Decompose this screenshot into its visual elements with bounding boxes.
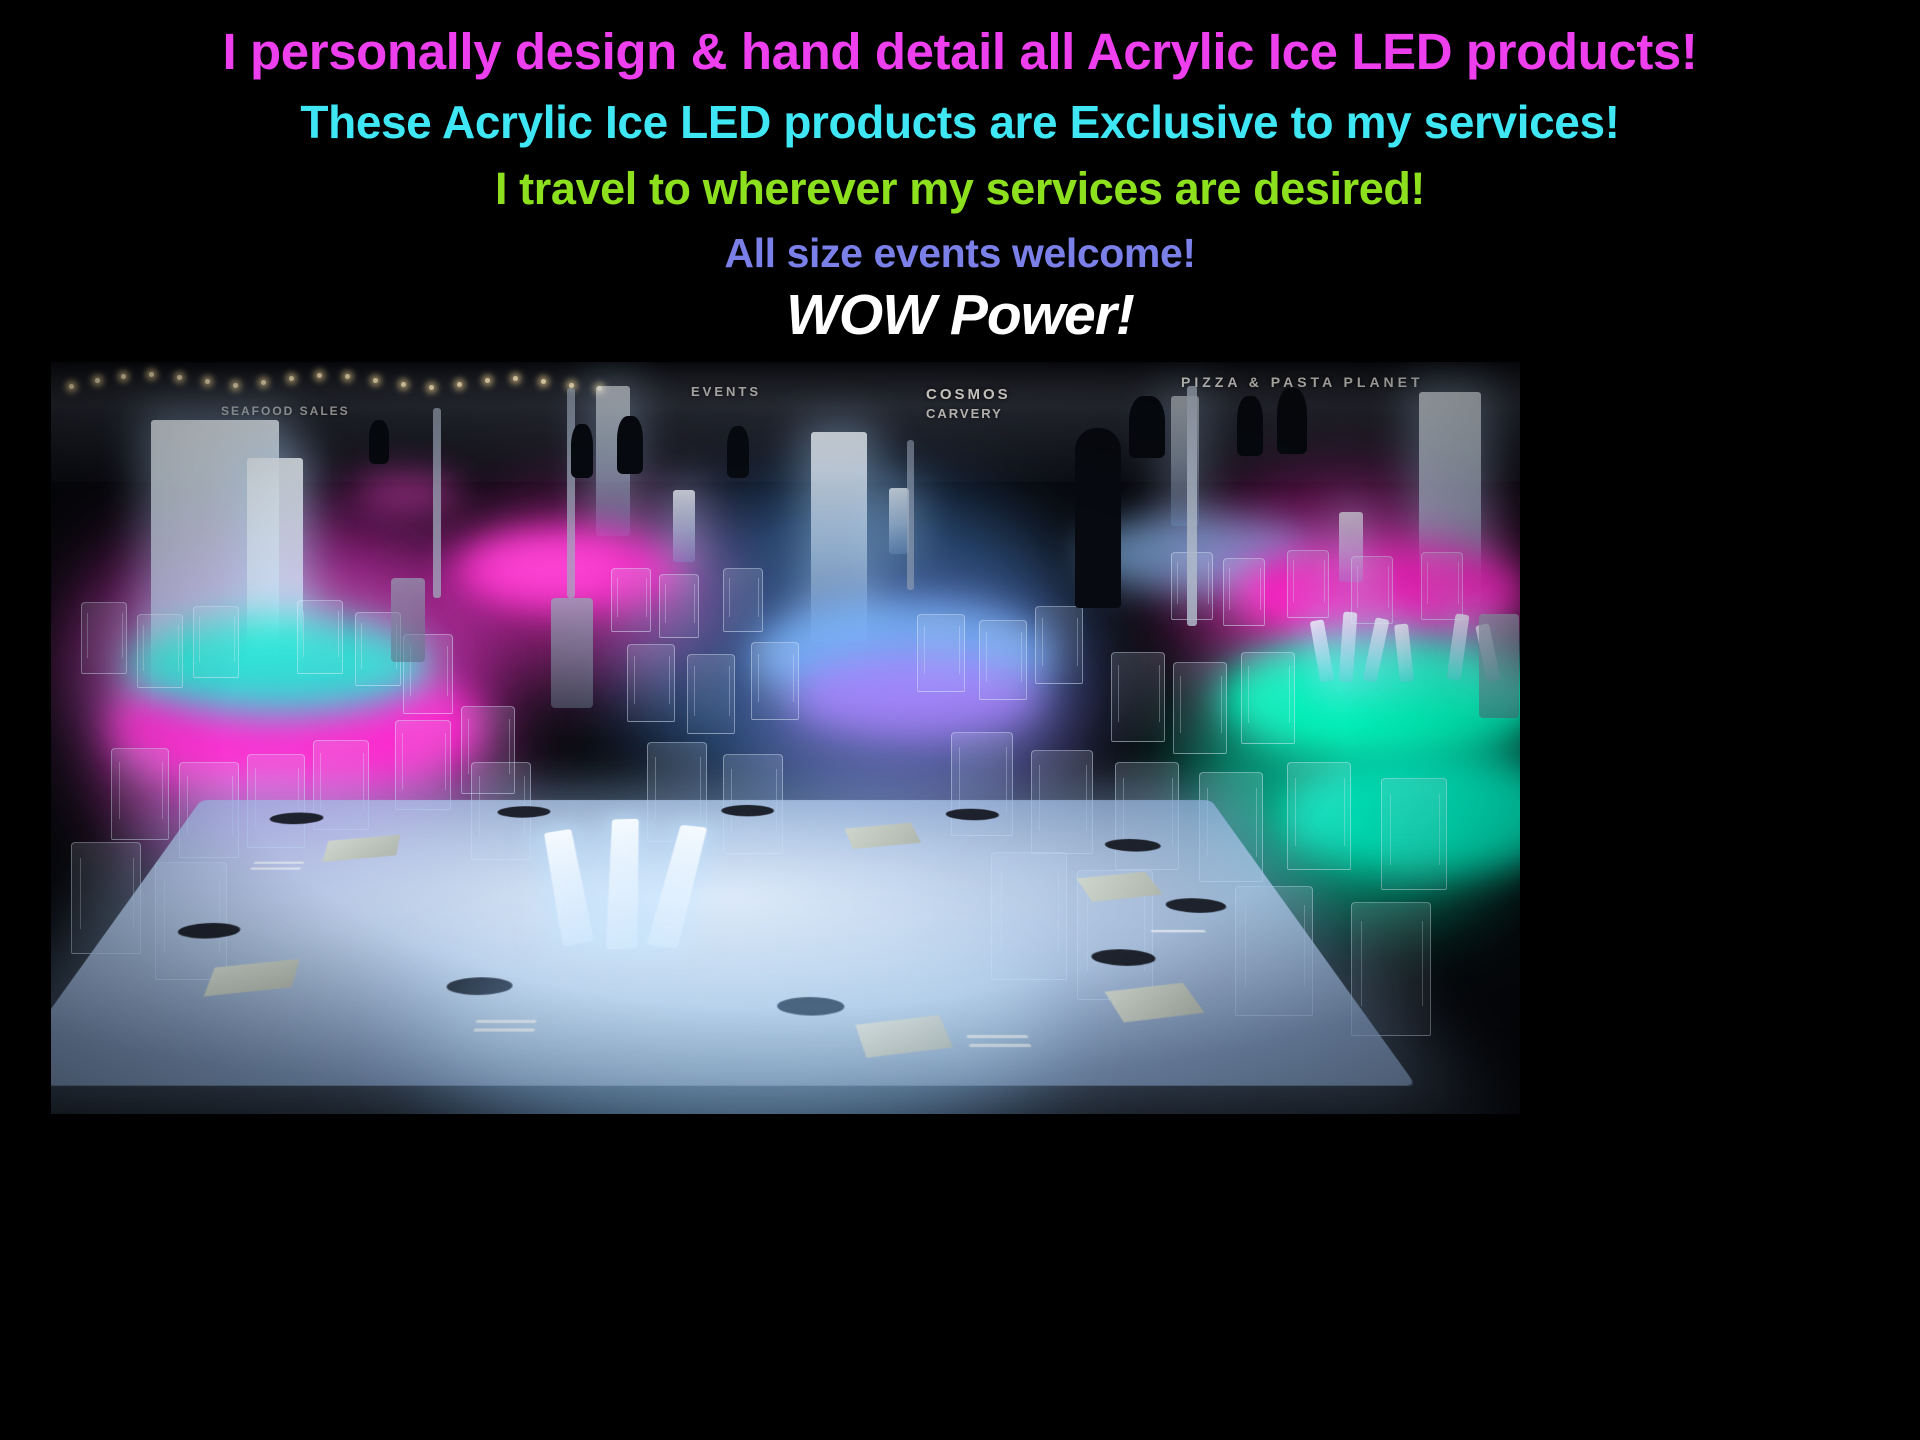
place-setting-plate [944,809,1001,821]
pedestal-bin [1479,614,1519,718]
ghost-chair [751,642,799,720]
table-underglow-blue [431,922,1051,1114]
ghost-chair [1381,778,1447,890]
string-lights [61,368,621,410]
place-setting-plate [1162,898,1231,913]
ghost-chair [1035,606,1083,684]
glowing-table-magenta-small-a [481,542,621,592]
headline-line-1: I personally design & hand detail all Ac… [0,26,1920,77]
folded-napkin [1076,872,1162,902]
headline-line-4: All size events welcome! [0,233,1920,274]
cutlery [1150,930,1206,933]
pedestal-bin [391,578,425,662]
ghost-chair [193,606,239,678]
ghost-chair [81,602,127,674]
ice-fountain-centerpiece-a [673,490,695,562]
place-setting-plate [173,923,244,939]
pedestal-bin [551,598,593,708]
ghost-chair [137,614,183,688]
ghost-chair [1173,662,1227,754]
ghost-chair [1111,652,1165,742]
place-setting-plate [1102,839,1165,852]
cutlery [250,867,302,869]
ghost-chair [917,614,965,692]
ghost-chair [1287,550,1329,618]
patio-heater-pole [433,408,441,598]
ghost-chair [611,568,651,632]
folded-napkin [322,835,400,862]
ghost-chair [627,644,675,722]
ghost-chair [1351,556,1393,624]
guest-silhouette [1075,428,1121,608]
place-setting-plate [496,806,552,817]
guest-silhouette [1237,396,1263,456]
ghost-chair [1421,552,1463,620]
ghost-chair [1241,652,1295,744]
patio-heater-pole [567,388,575,598]
ghost-chair [659,574,699,638]
guest-silhouette [1277,388,1307,454]
ghost-chair [297,600,343,674]
ghost-chair [395,720,451,810]
guest-silhouette [369,420,389,464]
headline-line-3: I travel to wherever my services are des… [0,166,1920,211]
event-photo-canvas: SEAFOOD SALES EVENTS COSMOS CARVERY PIZZ… [51,362,1520,1114]
ghost-chair [111,748,169,840]
cutlery [253,862,304,864]
place-setting-plate [721,805,774,816]
patio-heater-pole [1187,386,1197,626]
folded-napkin [204,959,300,997]
place-setting-plate [266,813,326,825]
ghost-chair [1223,558,1265,626]
patio-heater-pole [907,440,914,590]
promo-flyer: I personally design & hand detail all Ac… [0,0,1920,1440]
ice-fountain-centerpiece-b [889,488,909,554]
headline-line-2: These Acrylic Ice LED products are Exclu… [0,99,1920,145]
guest-silhouette [727,426,749,478]
acrylic-ice-wing-left [544,829,594,947]
headline-line-5-wow-power: WOW Power! [0,287,1920,344]
ghost-chair [723,568,763,632]
guest-silhouette [571,424,593,478]
glowing-table-magenta-small-b [351,472,461,512]
headline-block: I personally design & hand detail all Ac… [0,0,1920,344]
guest-silhouette [1129,396,1165,458]
ghost-chair [979,620,1027,700]
folded-napkin [845,823,921,849]
place-setting-plate [1088,949,1160,966]
ghost-chair [1287,762,1351,870]
event-photo: SEAFOOD SALES EVENTS COSMOS CARVERY PIZZ… [51,362,1520,1114]
guest-silhouette [617,416,643,474]
folded-napkin [1105,983,1205,1023]
ghost-chair [687,654,735,734]
